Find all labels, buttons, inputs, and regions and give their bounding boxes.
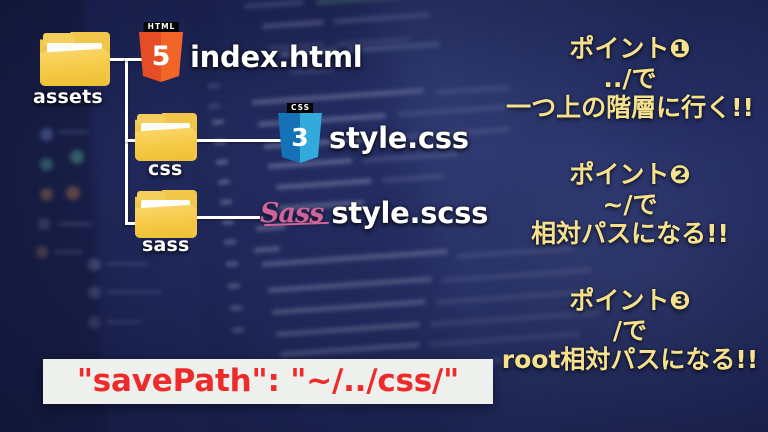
point-block-1: ポイント❶ ../で 一つ上の階層に行く!! [492,34,768,123]
folder-label-sass: sass [142,234,190,256]
tree-connector-css-to-file [196,139,282,142]
html5-shield: 5 [139,32,183,82]
file-name-index-html: index.html [190,40,362,74]
point-2-title: ポイント❷ [492,160,768,190]
savepath-callout-box: "savePath": "~/../css/" [43,359,493,404]
sass-logo: Sass [260,200,327,227]
point-1-middle: ../で [492,64,768,94]
html5-logo-caption: HTML [144,22,179,32]
folder-label-css: css [148,158,182,180]
css3-shield: 3 [278,113,322,163]
folder-front [135,127,197,161]
point-block-2: ポイント❷ ~/で 相対パスになる!! [492,160,768,249]
css3-logo: CSS 3 [278,113,322,163]
screenshot-stage: assets HTML 5 index.html css [0,0,768,432]
point-3-middle: /で [492,316,768,346]
point-block-3: ポイント❸ /で root相対パスになる!! [492,286,768,375]
html5-glyph: 5 [152,43,171,70]
folder-front [40,48,110,86]
file-name-style-css: style.css [329,121,469,155]
point-3-body: root相対パスになる!! [492,345,768,375]
point-1-title: ポイント❶ [492,34,768,64]
file-style-css[interactable]: CSS 3 style.css [278,113,469,163]
file-name-style-scss: style.scss [331,196,488,230]
file-index-html[interactable]: HTML 5 index.html [139,32,362,82]
css3-glyph: 3 [291,125,308,150]
point-2-middle: ~/で [492,190,768,220]
points-panel: ポイント❶ ../で 一つ上の階層に行く!! ポイント❷ ~/で 相対パスになる… [492,0,768,432]
savepath-callout-text: "savePath": "~/../css/" [77,366,459,397]
html5-logo: HTML 5 [139,32,183,82]
css3-logo-caption: CSS [287,103,313,113]
point-3-title: ポイント❸ [492,286,768,316]
folder-label-assets: assets [33,86,103,108]
point-2-body: 相対パスになる!! [492,219,768,249]
point-1-body: 一つ上の階層に行く!! [492,93,768,123]
folder-front [135,204,197,238]
tree-connector-sass-to-file [196,216,260,219]
file-style-scss[interactable]: Sass style.scss [260,196,488,230]
